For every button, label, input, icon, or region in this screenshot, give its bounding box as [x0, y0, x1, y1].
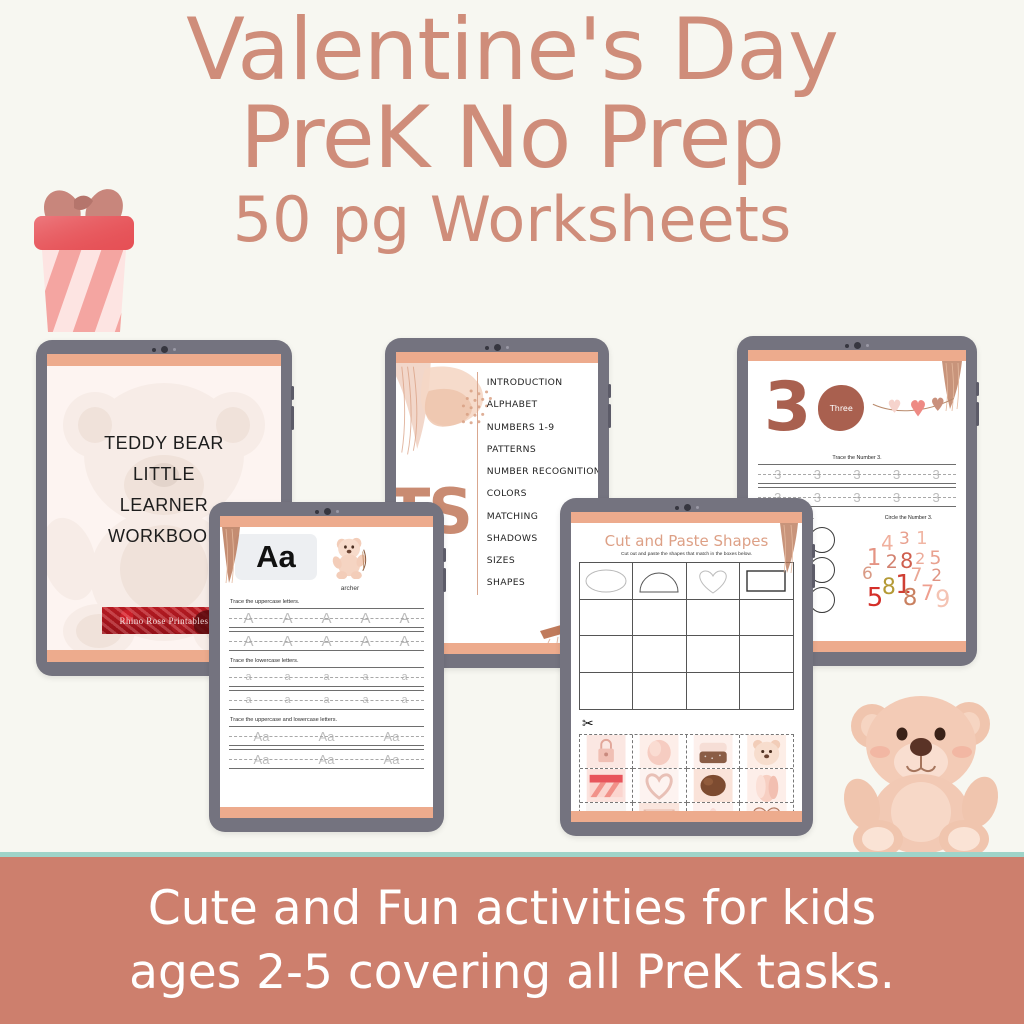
trace-row: 3 3 3 3 3	[758, 464, 956, 484]
lowercase-trace-block: a a a a a a a a a a	[229, 667, 424, 710]
trace-glyph: A	[399, 610, 409, 627]
page-top-band	[47, 354, 281, 366]
scatter-number[interactable]: 9	[935, 585, 950, 613]
headline-line-1: Valentine's Day	[0, 8, 1024, 92]
scatter-number[interactable]: 7	[921, 581, 934, 605]
cutout-cell[interactable]	[740, 735, 793, 769]
tablet-camera-dots	[737, 341, 977, 350]
trace-glyph: a	[245, 671, 251, 683]
picture-caption: archer	[327, 585, 373, 592]
trace-glyph: 3	[853, 490, 860, 505]
trace-instruction: Trace the uppercase and lowercase letter…	[230, 717, 424, 723]
cutout-cell[interactable]	[740, 803, 793, 811]
cutpaste-title: Cut and Paste Shapes	[579, 532, 794, 550]
tablet-camera-dots	[385, 343, 609, 352]
page-bottom-band	[571, 811, 802, 822]
teddy-bear-icon	[832, 684, 1012, 856]
cutpaste-screen: Cut and Paste Shapes Cut out and paste t…	[571, 512, 802, 822]
trace-glyph: a	[362, 671, 368, 683]
tablet-camera-dots	[209, 507, 444, 516]
trace-glyph: a	[323, 671, 329, 683]
trace-glyph: a	[284, 671, 290, 683]
number-trace-instruction: Trace the Number 3.	[758, 455, 956, 461]
trace-glyph: Aa	[254, 729, 270, 744]
footer-banner: Cute and Fun activities for kids ages 2-…	[0, 857, 1024, 1024]
scatter-number[interactable]: 8	[903, 585, 918, 611]
answer-cell[interactable]	[687, 636, 740, 673]
number-word: Three	[830, 404, 853, 413]
cutout-cell[interactable]	[580, 735, 633, 769]
cutpaste-subtitle: Cut out and paste the shapes that match …	[579, 552, 794, 557]
cutout-cell[interactable]	[740, 769, 793, 803]
trace-glyph: A	[243, 610, 253, 627]
scatter-number[interactable]: 1	[916, 528, 927, 549]
trace-row: A A A A A	[229, 608, 424, 628]
scatter-number[interactable]: 5	[867, 583, 884, 613]
trace-glyph: 3	[853, 467, 860, 482]
cutpaste-page: Cut and Paste Shapes Cut out and paste t…	[571, 523, 802, 811]
trace-glyph: A	[360, 610, 370, 627]
answer-cell[interactable]	[633, 636, 686, 673]
uppercase-trace-block: A A A A A A A A A A	[229, 608, 424, 651]
scattered-numbers: 14312825672815879	[861, 523, 956, 609]
contents-item[interactable]: NUMBERS 1-9	[487, 417, 598, 439]
cover-title-line-2: LITTLE	[47, 459, 281, 490]
trace-glyph: A	[399, 633, 409, 650]
page-top-band	[748, 350, 966, 361]
answer-grid	[579, 562, 794, 710]
cutout-cell[interactable]	[633, 803, 686, 811]
scatter-column: Circle the Number 3. 14312825672815879	[861, 515, 956, 613]
trace-row: a a a a a	[229, 690, 424, 710]
trace-row: Aa Aa Aa	[229, 726, 424, 746]
alphabet-screen: Aa	[220, 516, 433, 818]
headline-subtitle: 50 pg Worksheets	[0, 189, 1024, 251]
trace-glyph: A	[321, 633, 331, 650]
answer-cell[interactable]	[580, 636, 633, 673]
heart-garland-icon	[871, 388, 956, 428]
scatter-number[interactable]: 3	[899, 529, 910, 549]
trace-glyph: 3	[814, 467, 821, 482]
answer-cell[interactable]	[633, 600, 686, 637]
answer-cell[interactable]	[740, 636, 793, 673]
corner-brush-art	[776, 523, 802, 575]
number-hero-row: 3 Three	[758, 368, 956, 448]
scissors-icon: ✂	[582, 716, 794, 730]
trace-glyph: Aa	[254, 752, 270, 767]
trace-glyph: a	[323, 694, 329, 706]
cutout-cell[interactable]	[687, 735, 740, 769]
scatter-number[interactable]: 8	[882, 575, 896, 600]
trace-glyph: A	[360, 633, 370, 650]
publisher-badge: Rhino Rose Printables	[102, 607, 226, 634]
trace-glyph: A	[321, 610, 331, 627]
tablet-camera-dots	[560, 503, 813, 512]
trace-glyph: a	[401, 671, 407, 683]
trace-glyph: 3	[933, 467, 940, 482]
tablet-cut-and-paste-worksheet[interactable]: Cut and Paste Shapes Cut out and paste t…	[560, 498, 813, 836]
scatter-label: Circle the Number 3.	[861, 515, 956, 521]
contents-item[interactable]: PATTERNS	[487, 439, 598, 461]
cutout-cell[interactable]	[580, 803, 633, 811]
answer-cell[interactable]	[687, 673, 740, 710]
oval-shape-icon	[584, 568, 628, 594]
trace-row: Aa Aa Aa	[229, 749, 424, 769]
trace-row: a a a a a	[229, 667, 424, 687]
number-word-blob: Three	[818, 385, 864, 431]
cutout-cell[interactable]	[633, 769, 686, 803]
answer-cell[interactable]	[687, 600, 740, 637]
semicircle-shape-icon	[637, 568, 681, 594]
contents-item[interactable]: ALPHABET	[487, 394, 598, 416]
trace-glyph: A	[282, 633, 292, 650]
cutout-cell[interactable]	[687, 803, 740, 811]
shape-header-cell[interactable]	[580, 563, 633, 600]
poster-canvas: Valentine's Day PreK No Prep 50 pg Works…	[0, 0, 1024, 1024]
trace-glyph: a	[362, 694, 368, 706]
scatter-number[interactable]: 6	[862, 564, 873, 584]
corner-brush-art	[220, 527, 246, 585]
trace-glyph: A	[243, 633, 253, 650]
trace-glyph: a	[245, 694, 251, 706]
trace-glyph: Aa	[384, 729, 400, 744]
trace-glyph: A	[282, 610, 292, 627]
archer-bear-illustration: archer	[327, 535, 373, 592]
trace-glyph: a	[401, 694, 407, 706]
page-top-band	[571, 512, 802, 523]
number-numeral: 3	[764, 377, 811, 438]
answer-cell[interactable]	[740, 600, 793, 637]
cutout-cell[interactable]	[687, 769, 740, 803]
trace-glyph: 3	[893, 467, 900, 482]
cover-title-line-1: TEDDY BEAR	[47, 428, 281, 459]
footer-line-1: Cute and Fun activities for kids	[148, 877, 876, 940]
shape-header-cell[interactable]	[633, 563, 686, 600]
pair-trace-block: Aa Aa Aa Aa Aa Aa	[229, 726, 424, 769]
publisher-badge-label: Rhino Rose Printables	[120, 616, 209, 626]
shape-header-cell[interactable]	[687, 563, 740, 600]
alphabet-hero-row: Aa	[229, 534, 424, 592]
footer-line-2: ages 2-5 covering all PreK tasks.	[129, 941, 895, 1004]
alphabet-page: Aa	[220, 527, 433, 807]
trace-instruction: Trace the lowercase letters.	[230, 658, 424, 664]
trace-glyph: Aa	[319, 752, 335, 767]
cutout-cell[interactable]	[580, 769, 633, 803]
tablet-alphabet-worksheet[interactable]: Aa	[209, 502, 444, 832]
tablet-camera-dots	[36, 345, 292, 354]
trace-glyph: 3	[893, 490, 900, 505]
contents-item[interactable]: NUMBER RECOGNITION	[487, 461, 598, 483]
page-top-band	[396, 352, 598, 363]
heart-shape-icon	[693, 568, 733, 594]
trace-instruction: Trace the uppercase letters.	[230, 599, 424, 605]
page-bottom-band	[220, 807, 433, 818]
trace-glyph: 3	[814, 490, 821, 505]
poster-headline: Valentine's Day PreK No Prep 50 pg Works…	[0, 8, 1024, 251]
trace-glyph: a	[284, 694, 290, 706]
letter-label: Aa	[256, 539, 296, 575]
cutout-cell[interactable]	[633, 735, 686, 769]
answer-cell[interactable]	[740, 673, 793, 710]
headline-line-2: PreK No Prep	[0, 96, 1024, 180]
answer-cell[interactable]	[633, 673, 686, 710]
answer-cell[interactable]	[580, 673, 633, 710]
answer-cell[interactable]	[580, 600, 633, 637]
trace-row: A A A A A	[229, 631, 424, 651]
trace-glyph: 3	[933, 490, 940, 505]
trace-glyph: Aa	[319, 729, 335, 744]
trace-glyph: 3	[774, 467, 781, 482]
cutout-strip	[579, 734, 794, 811]
page-top-band	[220, 516, 433, 527]
contents-item[interactable]: INTRODUCTION	[487, 372, 598, 394]
letter-chip: Aa	[235, 534, 317, 580]
trace-glyph: Aa	[384, 752, 400, 767]
